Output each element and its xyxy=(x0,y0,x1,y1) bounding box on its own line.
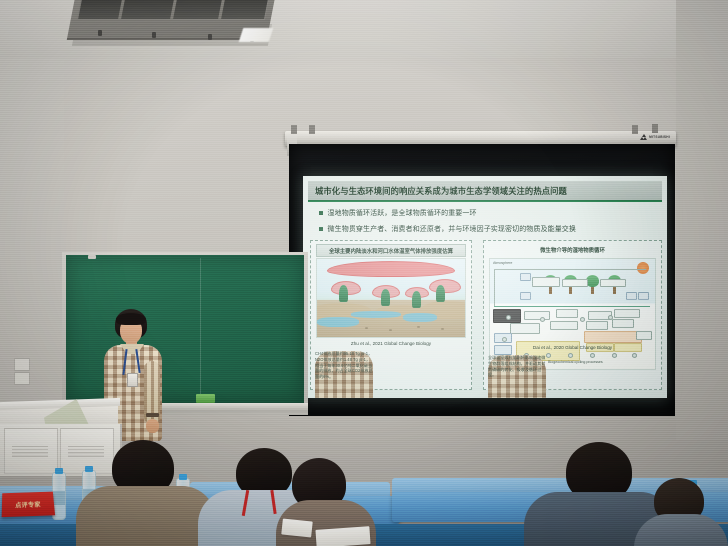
handout-paper[interactable] xyxy=(281,518,313,537)
right-panel-heading-text: 微生物介导的湿地物质循环 xyxy=(540,246,605,254)
tree-icon xyxy=(436,285,445,302)
left-panel-citation: Zhu et al., 2021 Global Change Biology xyxy=(317,341,465,346)
diagram-box xyxy=(532,277,560,287)
bullet-square-icon xyxy=(319,227,323,231)
diagram-box xyxy=(638,292,649,300)
cabinet-vent xyxy=(12,446,48,457)
chalkboard-eraser[interactable] xyxy=(196,394,215,403)
diagram-box xyxy=(636,331,652,340)
diagram-label-footer: Biogeochemical cycling processes xyxy=(548,360,603,364)
diagram-box xyxy=(586,321,608,330)
mitsubishi-logo: MITSUBISHI xyxy=(640,134,670,140)
water-body-shape xyxy=(351,311,401,318)
slide-right-panel: 微生物介导的湿地物质循环 Atmosphere xyxy=(483,240,662,390)
handout-paper[interactable] xyxy=(315,526,370,546)
diagram-box xyxy=(600,279,626,287)
greenhouse-gas-landscape-illustration xyxy=(316,258,466,338)
diagram-box xyxy=(550,321,578,330)
diagram-box xyxy=(614,309,640,318)
diagram-box xyxy=(612,319,634,328)
right-wall xyxy=(676,0,728,440)
diagram-box xyxy=(520,273,531,281)
left-wall xyxy=(0,58,64,430)
mount-bolt-icon xyxy=(152,32,156,38)
diagram-label-atmosphere: Atmosphere xyxy=(493,261,512,265)
bullet-square-icon xyxy=(319,211,323,215)
diagram-box xyxy=(584,331,642,343)
right-panel-heading: 微生物介导的湿地物质循环 xyxy=(489,244,656,255)
chalkboard-panel-seam xyxy=(200,258,201,400)
wall-socket-icon[interactable] xyxy=(14,372,30,385)
presenter-fringe xyxy=(116,313,146,325)
microbial-cycling-diagram: Atmosphere xyxy=(489,258,656,370)
slide-bullet-1: 湿地物质循环活跃，是全球物质循环的重要一环 xyxy=(319,208,477,218)
slide-title-bar: 城市化与生态环境间的响应关系成为城市生态学领域关注的热点问题 xyxy=(308,181,662,202)
chalkboard-clip-icon xyxy=(88,255,96,259)
diagram-box xyxy=(510,323,540,334)
left-panel-heading: 全球主要内陆淡水和河口水体温室气体排放强度估算 xyxy=(316,244,466,257)
diagram-box xyxy=(626,292,637,300)
emission-dome-icon xyxy=(327,261,455,277)
lecture-hall-photo: MITSUBISHI 城市化与生态环境间的响应关系成为城市生态学领域关注的热点问… xyxy=(0,0,728,546)
right-panel-citation: Dai et al., 2020 Global Change Biology xyxy=(490,345,655,350)
presenter-name-badge xyxy=(127,373,138,387)
placard-label: 点评专家 xyxy=(15,499,41,509)
diagram-box xyxy=(524,311,550,320)
water-body-shape xyxy=(403,313,437,322)
mount-bolt-icon xyxy=(98,30,102,36)
emission-dome-icon xyxy=(429,279,461,293)
mitsubishi-diamond-icon xyxy=(640,134,647,140)
slide-title: 城市化与生态环境间的响应关系成为城市生态学领域关注的热点问题 xyxy=(308,185,567,197)
diagram-box xyxy=(520,292,531,300)
presenter-hand xyxy=(146,419,159,433)
water-body-shape xyxy=(317,317,359,327)
slide-bullet-1-text: 湿地物质循环活跃，是全球物质循环的重要一环 xyxy=(328,208,477,218)
slide-left-panel: 全球主要内陆淡水和河口水体温室气体排放强度估算 xyxy=(310,240,472,390)
projector-lens-panel xyxy=(77,0,271,20)
cabinet-vent xyxy=(68,446,104,457)
right-panel-body: 全球温室效应加剧将影响湿地微生物群落组成结构，并驱动其对氮磷碳的转化、吸收及循环… xyxy=(488,355,546,398)
mount-bolt-icon xyxy=(208,34,212,40)
diagram-box xyxy=(556,309,578,318)
ceiling-light-reflection xyxy=(239,28,274,42)
wristwatch-icon xyxy=(146,413,159,417)
diagram-box xyxy=(562,279,588,287)
tree-icon xyxy=(412,291,421,308)
left-panel-heading-text: 全球主要内陆淡水和河口水体温室气体排放强度估算 xyxy=(329,247,453,255)
tree-icon xyxy=(339,285,348,302)
sun-icon xyxy=(637,262,649,274)
slide-bullet-2: 微生物贯穿生产者、消费者和还原者，并与环境因子实现密切的物质及能量交换 xyxy=(319,224,576,234)
wall-socket-icon[interactable] xyxy=(14,358,30,371)
slide-bullet-2-text: 微生物贯穿生产者、消费者和还原者，并与环境因子实现密切的物质及能量交换 xyxy=(328,224,577,234)
left-panel-body: CH4排放总量约95.18 Tg yr-1，N2O排放总量约1.48 Tg yr… xyxy=(315,351,373,398)
name-placard: 点评专家 xyxy=(2,492,55,518)
projector-brand-label: MITSUBISHI xyxy=(649,135,670,139)
projected-slide: 城市化与生态环境间的响应关系成为城市生态学领域关注的热点问题 湿地物质循环活跃，… xyxy=(303,176,667,398)
tree-icon xyxy=(381,289,390,306)
